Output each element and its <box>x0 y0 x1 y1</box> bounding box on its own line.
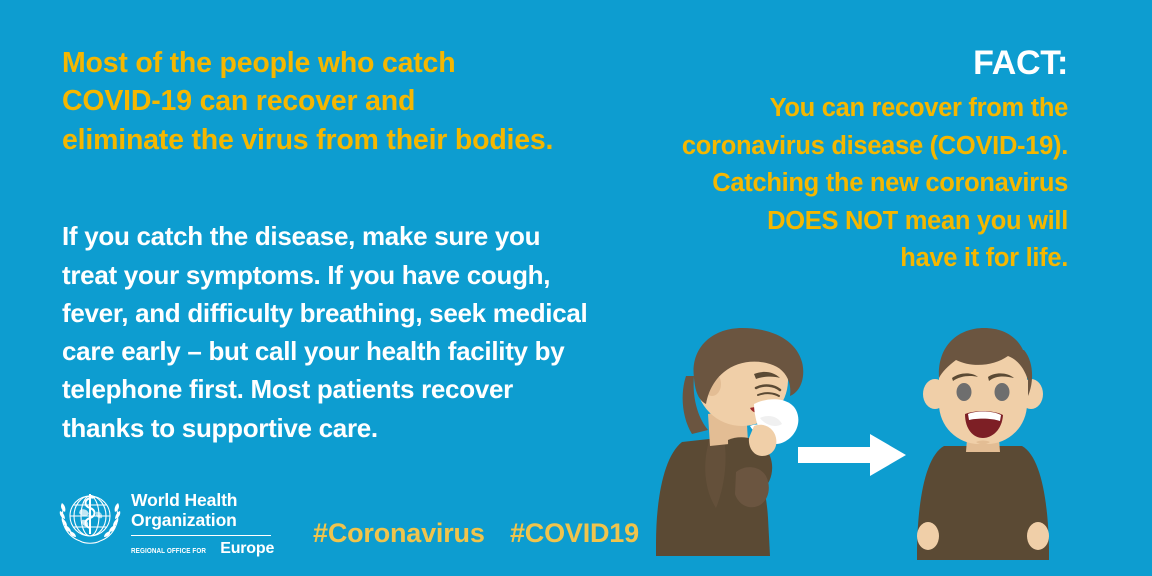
fact-column: FACT: You can recover from the coronavir… <box>648 44 1068 278</box>
left-text-column: Most of the people who catch COVID-19 ca… <box>62 44 622 447</box>
fact-line: You can recover from the <box>648 90 1068 127</box>
fact-line: coronavirus disease (COVID-19). <box>648 128 1068 165</box>
fact-paragraph: You can recover from the coronavirus dis… <box>648 90 1068 277</box>
fact-line: DOES NOT mean you will <box>648 203 1068 240</box>
body-paragraph: If you catch the disease, make sure you … <box>62 217 622 446</box>
who-emblem-icon <box>58 490 122 546</box>
who-region-name: Europe <box>220 540 274 558</box>
who-logo: World Health Organization REGIONAL OFFIC… <box>58 488 274 558</box>
who-name-line: World Health <box>131 491 274 511</box>
who-region-prefix: REGIONAL OFFICE FOR <box>131 546 206 555</box>
who-region: REGIONAL OFFICE FOR Europe <box>131 540 274 558</box>
headline-line: COVID-19 can recover and <box>62 82 622 120</box>
who-logo-divider <box>131 535 271 537</box>
right-arrow-icon <box>798 432 908 478</box>
body-line: care early – but call your health facili… <box>62 332 622 370</box>
who-name-line: Organization <box>131 511 274 531</box>
body-line: fever, and difficulty breathing, seek me… <box>62 294 622 332</box>
body-line: thanks to supportive care. <box>62 409 622 447</box>
hashtag-covid19: #COVID19 <box>510 518 639 548</box>
headline: Most of the people who catch COVID-19 ca… <box>62 44 622 159</box>
body-line: treat your symptoms. If you have cough, <box>62 256 622 294</box>
infographic-poster: Most of the people who catch COVID-19 ca… <box>0 0 1152 576</box>
who-name: World Health Organization <box>131 491 274 530</box>
hashtags: #Coronavirus #COVID19 <box>313 518 639 549</box>
body-line: If you catch the disease, make sure you <box>62 217 622 255</box>
man-smiling-recovered-illustration <box>908 322 1058 572</box>
hashtag-coronavirus: #Coronavirus <box>313 518 485 548</box>
headline-line: eliminate the virus from their bodies. <box>62 121 622 159</box>
who-wordmark: World Health Organization REGIONAL OFFIC… <box>131 488 274 558</box>
fact-line: Catching the new coronavirus <box>648 165 1068 202</box>
fact-label: FACT: <box>648 44 1068 83</box>
body-line: telephone first. Most patients recover <box>62 370 622 408</box>
fact-line: have it for life. <box>648 240 1068 277</box>
headline-line: Most of the people who catch <box>62 44 622 82</box>
illustration <box>650 322 1080 572</box>
